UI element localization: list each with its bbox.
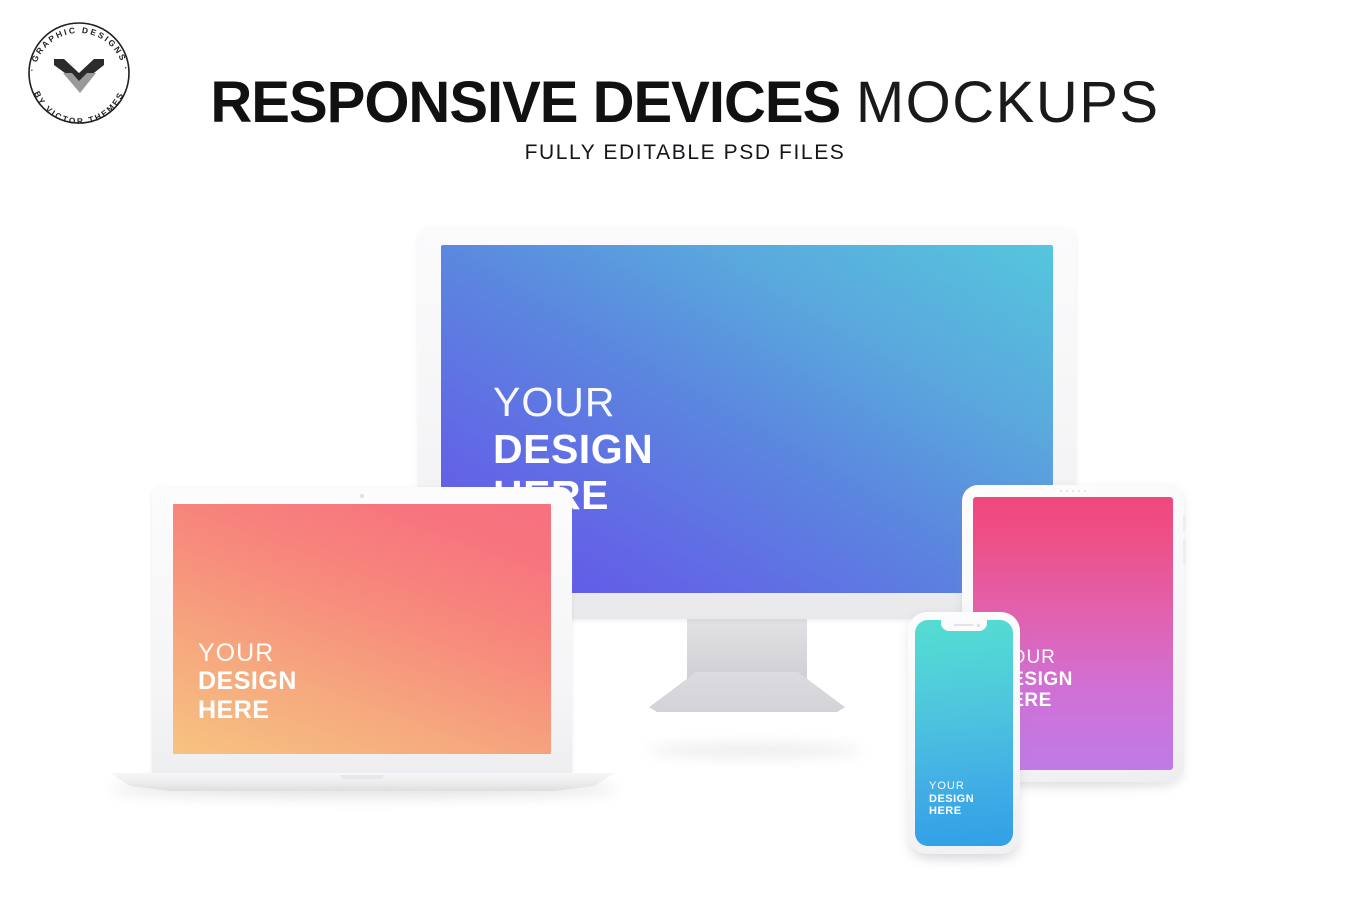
laptop-hinge-notch: [340, 775, 384, 779]
laptop-text-line3: HERE: [198, 696, 297, 725]
monitor-floor-shadow: [648, 745, 862, 756]
laptop-camera-icon: [360, 494, 364, 498]
tablet-volume-down-button[interactable]: [1183, 539, 1186, 565]
tablet-volume-up-button[interactable]: [1183, 515, 1186, 531]
tablet-camera-dots-icon: [1060, 490, 1086, 492]
phone-text-line3: HERE: [929, 805, 974, 818]
title-bold-part: RESPONSIVE DEVICES: [210, 70, 840, 135]
phone-screen-text: YOUR DESIGN HERE: [929, 780, 974, 818]
laptop-text-line2: DESIGN: [198, 667, 297, 696]
logo-top-text: · GRAPHIC DESIGNS ·: [26, 25, 131, 72]
phone-text-line1: YOUR: [929, 780, 974, 793]
device-phone: YOUR DESIGN HERE: [908, 612, 1020, 854]
page-title: RESPONSIVE DEVICES MOCKUPS: [0, 72, 1370, 134]
mockup-canvas: · GRAPHIC DESIGNS · BY VICTOR THEMES RES…: [0, 0, 1370, 913]
monitor-stand-foot: [649, 672, 845, 712]
phone-screen: YOUR DESIGN HERE: [915, 620, 1013, 846]
device-laptop: YOUR DESIGN HERE: [152, 487, 572, 775]
phone-front-camera-icon: [977, 624, 980, 627]
phone-text-line2: DESIGN: [929, 793, 974, 806]
monitor-text-line1: YOUR: [493, 379, 653, 426]
phone-speaker-icon: [954, 624, 974, 627]
monitor-stand-neck: [687, 617, 807, 679]
laptop-screen-text: YOUR DESIGN HERE: [198, 639, 297, 725]
title-light-part: MOCKUPS: [856, 70, 1160, 135]
monitor-text-line2: DESIGN: [493, 426, 653, 473]
page-subtitle: FULLY EDITABLE PSD FILES: [0, 141, 1370, 165]
phone-notch: [941, 620, 987, 631]
laptop-text-line1: YOUR: [198, 639, 297, 668]
laptop-screen: YOUR DESIGN HERE: [173, 504, 551, 754]
